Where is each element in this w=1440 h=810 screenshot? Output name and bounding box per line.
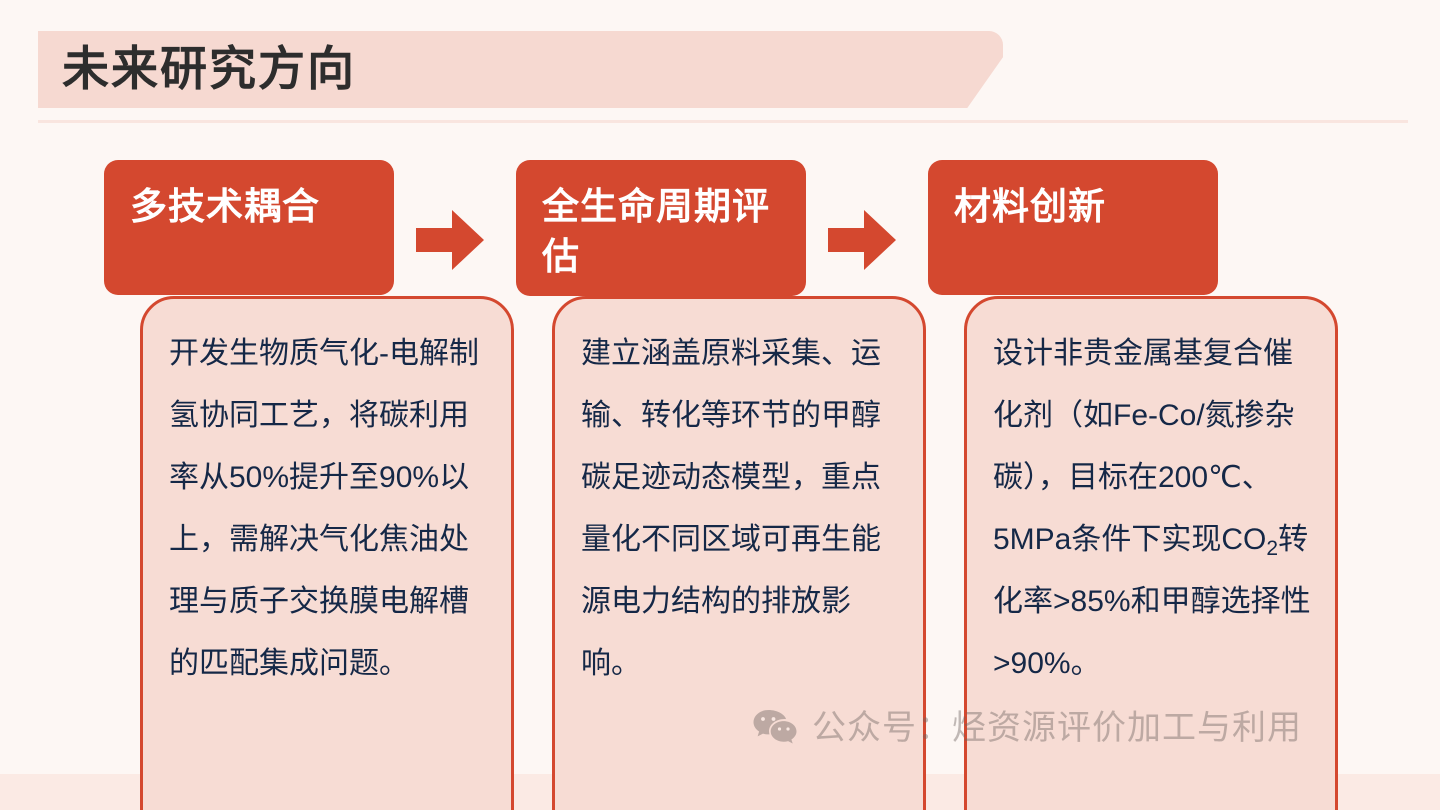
step-1-body-text: 开发生物质气化-电解制氢协同工艺，将碳利用率从50%提升至90%以上，需解决气化… (169, 323, 489, 695)
step-1-body-card: 开发生物质气化-电解制氢协同工艺，将碳利用率从50%提升至90%以上，需解决气化… (140, 296, 514, 810)
step-3-header-label: 材料创新 (954, 182, 1198, 232)
step-1-header[interactable]: 多技术耦合 (104, 160, 394, 295)
arrow-right-icon (416, 208, 484, 272)
step-3-header[interactable]: 材料创新 (928, 160, 1218, 295)
process-flow: 多技术耦合 开发生物质气化-电解制氢协同工艺，将碳利用率从50%提升至90%以上… (0, 0, 1440, 810)
step-2-body-text: 建立涵盖原料采集、运输、转化等环节的甲醇碳足迹动态模型，重点量化不同区域可再生能… (581, 323, 901, 695)
step-3-body-text: 设计非贵金属基复合催化剂（如Fe-Co/氮掺杂碳），目标在200℃、5MPa条件… (993, 323, 1313, 695)
arrow-right-icon (828, 208, 896, 272)
step-3-body-subscript: 2 (1266, 537, 1278, 560)
step-3-body-card: 设计非贵金属基复合催化剂（如Fe-Co/氮掺杂碳），目标在200℃、5MPa条件… (964, 296, 1338, 810)
step-1-header-label: 多技术耦合 (130, 182, 374, 232)
step-2-body-card: 建立涵盖原料采集、运输、转化等环节的甲醇碳足迹动态模型，重点量化不同区域可再生能… (552, 296, 926, 810)
step-2-header[interactable]: 全生命周期评估 (516, 160, 806, 296)
slide-canvas: 未来研究方向 多技术耦合 开发生物质气化-电解制氢协同工艺，将碳利用率从50%提… (0, 0, 1440, 810)
step-3-body-pre: 设计非贵金属基复合催化剂（如Fe-Co/氮掺杂碳），目标在200℃、5MPa条件… (993, 337, 1295, 556)
step-2-header-label: 全生命周期评估 (542, 182, 786, 282)
